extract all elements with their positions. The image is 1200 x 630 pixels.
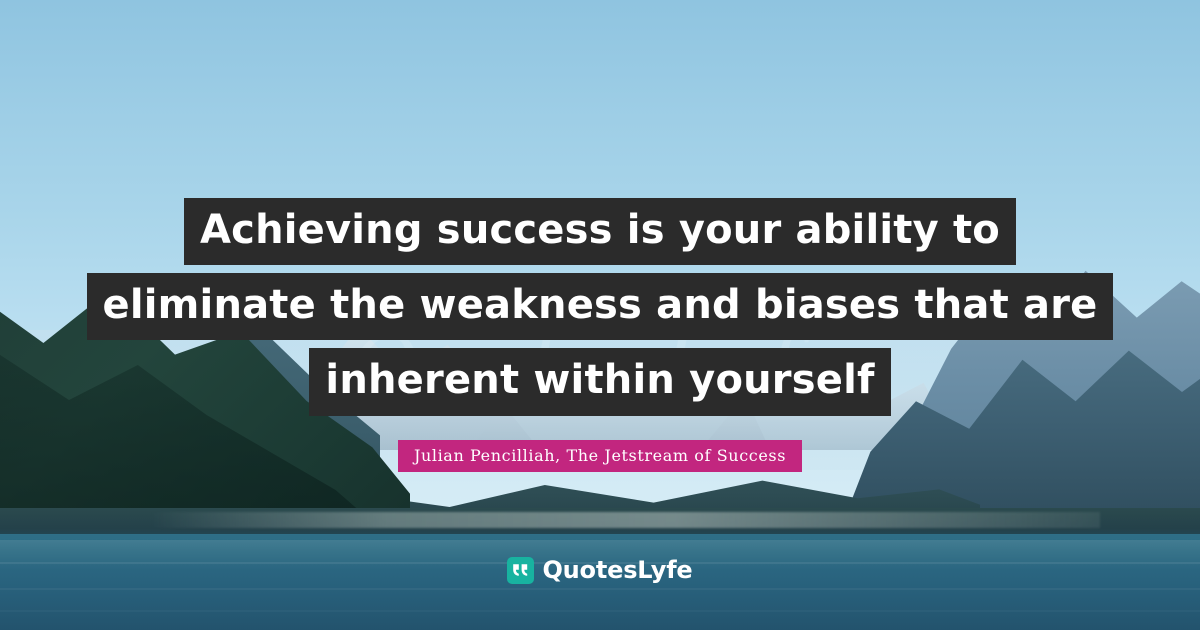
attribution-block: Julian Pencilliah, The Jetstream of Succ…	[0, 440, 1200, 472]
water-ripple	[0, 610, 1200, 612]
shoreline-highlight	[150, 512, 1100, 528]
quote-text-block: Achieving success is your ability to eli…	[0, 198, 1200, 424]
quote-line-3: inherent within yourself	[309, 348, 890, 415]
quote-line-2: eliminate the weakness and biases that a…	[87, 273, 1114, 340]
water-ripple	[0, 588, 1200, 590]
quote-mark-icon	[507, 557, 534, 584]
site-logo-text: QuotesLyfe	[542, 556, 692, 584]
attribution-text: Julian Pencilliah, The Jetstream of Succ…	[398, 440, 802, 472]
quote-line-1: Achieving success is your ability to	[184, 198, 1016, 265]
site-logo[interactable]: QuotesLyfe	[0, 556, 1200, 584]
